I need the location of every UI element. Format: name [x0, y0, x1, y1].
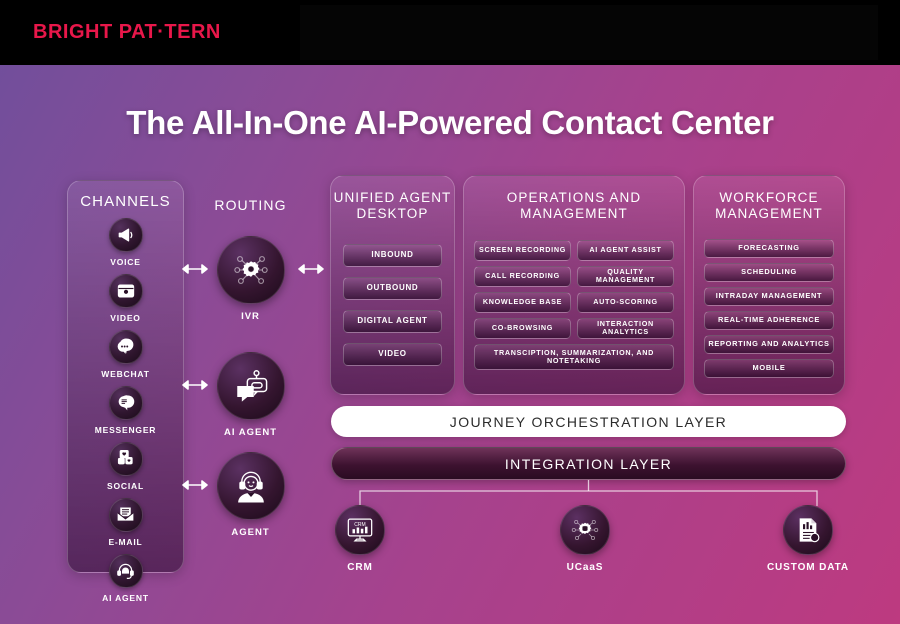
integration-label: CRM	[300, 562, 420, 573]
ops-item-screen-recording[interactable]: SCREEN RECORDING	[474, 240, 571, 261]
channel-label: VOICE	[68, 257, 183, 267]
data-report-icon	[783, 505, 833, 555]
uad-item-video[interactable]: VIDEO	[343, 343, 442, 366]
header-inset-panel	[300, 5, 878, 60]
workforce-management-title: WORKFORCE MANAGEMENT	[694, 190, 844, 222]
workforce-management-panel: WORKFORCE MANAGEMENT FORECASTING SCHEDUL…	[693, 175, 845, 395]
integration-node-custom-data[interactable]: CUSTOM DATA	[748, 505, 868, 573]
channel-item-messenger[interactable]: MESSENGER	[68, 386, 183, 435]
operations-management-title: OPERATIONS AND MANAGEMENT	[464, 190, 684, 222]
wfm-item-forecasting[interactable]: FORECASTING	[704, 239, 834, 258]
infographic-canvas: BRIGHT PAT·TERN The All-In-One AI-Powere…	[0, 0, 900, 624]
uad-item-digital-agent[interactable]: DIGITAL AGENT	[343, 310, 442, 333]
wfm-item-reporting-and-analytics[interactable]: REPORTING AND ANALYTICS	[704, 335, 834, 354]
wfm-item-real-time-adherence[interactable]: REAL-TIME ADHERENCE	[704, 311, 834, 330]
uad-item-outbound[interactable]: OUTBOUND	[343, 277, 442, 300]
integration-connector-lines	[331, 480, 846, 508]
gear-network-icon	[217, 236, 285, 304]
ops-item-ai-agent-assist[interactable]: AI AGENT ASSIST	[577, 240, 674, 261]
integration-label: CUSTOM DATA	[748, 562, 868, 573]
ucaas-network-icon	[560, 505, 610, 555]
arrow-channels-to-ivr	[182, 262, 208, 276]
routing-node-agent[interactable]: AGENT	[198, 452, 303, 538]
channel-item-ai-agent[interactable]: AI AGENT	[68, 554, 183, 603]
unified-agent-desktop-panel: UNIFIED AGENT DESKTOP INBOUND OUTBOUND D…	[330, 175, 455, 395]
channel-label: VIDEO	[68, 313, 183, 323]
ops-item-knowledge-base[interactable]: KNOWLEDGE BASE	[474, 292, 571, 313]
channel-item-voice[interactable]: VOICE	[68, 218, 183, 267]
chat-bubbles-lines-icon	[109, 386, 143, 420]
channel-item-video[interactable]: VIDEO	[68, 274, 183, 323]
routing-title: ROUTING	[198, 197, 303, 213]
person-agent-icon	[217, 452, 285, 520]
ops-item-auto-scoring[interactable]: AUTO-SCORING	[577, 292, 674, 313]
channel-label: WEBCHAT	[68, 369, 183, 379]
integration-node-ucaas[interactable]: UCaaS	[525, 505, 645, 573]
megaphone-icon	[109, 218, 143, 252]
arrow-ivr-to-desktop	[298, 262, 324, 276]
envelope-icon	[109, 498, 143, 532]
svg-text:CRM: CRM	[354, 522, 365, 528]
ops-item-quality-management[interactable]: QUALITY MANAGEMENT	[577, 266, 674, 287]
headset-agent-icon	[109, 554, 143, 588]
unified-agent-desktop-title: UNIFIED AGENT DESKTOP	[331, 190, 454, 222]
operations-management-panel: OPERATIONS AND MANAGEMENT SCREEN RECORDI…	[463, 175, 685, 395]
routing-node-ivr[interactable]: IVR	[198, 236, 303, 322]
ops-item-co-browsing[interactable]: CO-BROWSING	[474, 318, 571, 339]
channel-label: SOCIAL	[68, 481, 183, 491]
arrow-channels-to-agent	[182, 478, 208, 492]
channel-label: E-MAIL	[68, 537, 183, 547]
routing-label: AGENT	[198, 527, 303, 538]
channel-label: MESSENGER	[68, 425, 183, 435]
page-header: BRIGHT PAT·TERN	[0, 0, 900, 65]
crm-monitor-icon: CRM	[335, 505, 385, 555]
channel-item-email[interactable]: E-MAIL	[68, 498, 183, 547]
wfm-item-scheduling[interactable]: SCHEDULING	[704, 263, 834, 282]
routing-label: AI AGENT	[198, 427, 303, 438]
journey-orchestration-layer-bar[interactable]: JOURNEY ORCHESTRATION LAYER	[331, 406, 846, 437]
channels-panel: CHANNELS VOICE VIDEO	[67, 180, 184, 573]
integration-node-crm[interactable]: CRM CRM	[300, 505, 420, 573]
robot-chat-icon	[217, 352, 285, 420]
social-hearts-icon	[109, 442, 143, 476]
page-title: The All-In-One AI-Powered Contact Center	[0, 104, 900, 142]
wfm-item-intraday-management[interactable]: INTRADAY MANAGEMENT	[704, 287, 834, 306]
chat-bubbles-dots-icon	[109, 330, 143, 364]
ops-item-transcription-summarization[interactable]: TRANSCIPTION, SUMMARIZATION, AND NOTETAK…	[474, 344, 674, 370]
wfm-item-mobile[interactable]: MOBILE	[704, 359, 834, 378]
channel-label: AI AGENT	[68, 593, 183, 603]
video-window-icon	[109, 274, 143, 308]
integration-layer-label: INTEGRATION LAYER	[505, 456, 672, 472]
brand-logo: BRIGHT PAT·TERN	[33, 21, 221, 44]
integration-label: UCaaS	[525, 562, 645, 573]
uad-item-inbound[interactable]: INBOUND	[343, 244, 442, 267]
ops-item-interaction-analytics[interactable]: INTERACTION ANALYTICS	[577, 318, 674, 339]
integration-layer-bar[interactable]: INTEGRATION LAYER	[331, 447, 846, 480]
journey-orchestration-layer-label: JOURNEY ORCHESTRATION LAYER	[450, 414, 727, 430]
routing-label: IVR	[198, 311, 303, 322]
ops-item-call-recording[interactable]: CALL RECORDING	[474, 266, 571, 287]
channel-item-social[interactable]: SOCIAL	[68, 442, 183, 491]
channels-title: CHANNELS	[68, 193, 183, 211]
arrow-channels-to-ai-agent	[182, 378, 208, 392]
routing-node-ai-agent[interactable]: AI AGENT	[198, 352, 303, 438]
channel-item-webchat[interactable]: WEBCHAT	[68, 330, 183, 379]
